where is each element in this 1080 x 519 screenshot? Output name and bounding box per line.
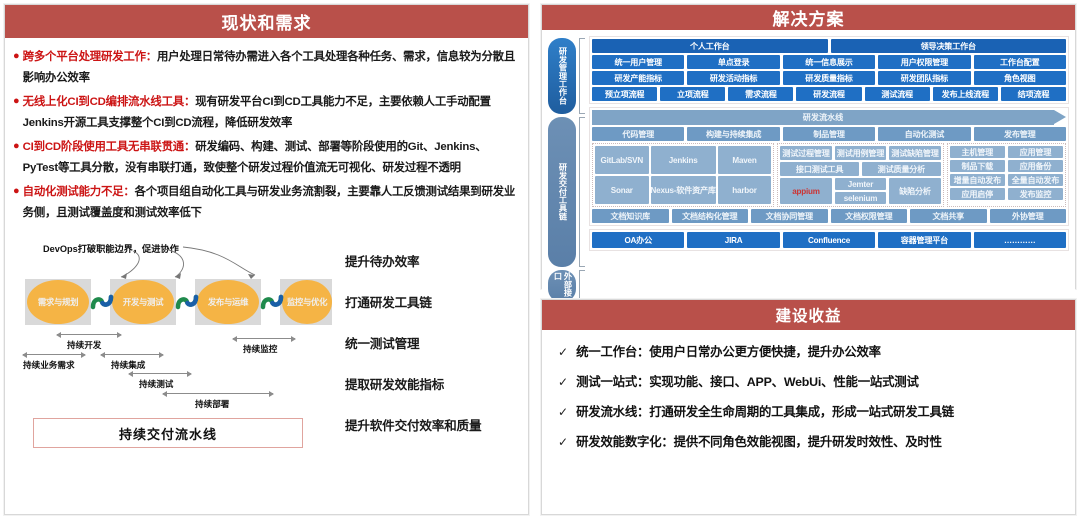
tool-full-release[interactable]: 全量自动发布 (1008, 174, 1063, 186)
management-workbench-group: 个人工作台 领导决策工作台 统一用户管理 单点登录 统一信息展示 用户权限管理 … (589, 36, 1069, 104)
workbench-row-4: 预立项流程 立项流程 需求流程 研发流程 测试流程 发布上线流程 结项流程 (592, 87, 1066, 101)
tool-app-mgmt[interactable]: 应用管理 (1008, 146, 1063, 158)
right-column: 解决方案 研发管理工作台 研发交付工具链 外部接口 个人工作台 (541, 4, 1076, 515)
deploy-row: 制品下载 应用备份 (950, 160, 1063, 172)
check-icon: ✓ (558, 404, 568, 420)
workbench-top-row: 个人工作台 领导决策工作台 (592, 39, 1066, 53)
tool-col: Jemter selenium (835, 178, 887, 204)
deploy-row: 增量自动发布 全量自动发布 (950, 174, 1063, 186)
tool-artifact-download[interactable]: 制品下载 (950, 160, 1005, 172)
module-unified-info-display[interactable]: 统一信息展示 (783, 55, 875, 69)
tool-maven[interactable]: Maven (718, 146, 771, 174)
module-user-permission-mgmt[interactable]: 用户权限管理 (878, 55, 970, 69)
list-item: ● 自动化测试能力不足：各个项目组自动化工具与研发业务流割裂，主要靠人工反馈测试… (13, 182, 518, 223)
status-and-requirements-panel: 现状和需求 ● 跨多个平台处理研发工作：用户处理日常待办需进入各个工具处理各种任… (4, 4, 529, 515)
external-row: OA办公 JIRA Confluence 容器管理平台 ………… (592, 232, 1066, 248)
test-row-2: 接口测试工具 测试质量分析 (780, 162, 940, 176)
tool-harbor[interactable]: harbor (718, 176, 771, 204)
benefit-list: ✓ 统一工作台：使用户日常办公更方便快捷，提升办公效率 ✓ 测试一站式：实现功能… (542, 330, 1075, 514)
tool-group-deploy: 主机管理 应用管理 制品下载 应用备份 增量自动发布 全量自动发布 (947, 143, 1066, 207)
layer-label-external: 外部接口 (548, 270, 576, 302)
workbench-row-3: 研发产能指标 研发活动指标 研发质量指标 研发团队指标 角色视图 (592, 71, 1066, 85)
benefit-panel-title: 建设收益 (542, 300, 1075, 330)
bullet-keyword: CI到CD阶段使用工具无串联贯通： (23, 141, 196, 153)
list-item: ✓ 测试一站式：实现功能、接口、APP、WebUi、性能一站式测试 (558, 374, 1059, 390)
devops-lifecycle-diagram: DevOps打破职能边界，促进协作 需求与规划 开发与测试 发布与运维 监控与优… (15, 237, 333, 452)
list-item: ✓ 研发流水线：打通研发全生命周期的工具集成，形成一站式研发工具链 (558, 404, 1059, 420)
infinity-loop-icon (89, 289, 115, 315)
tool-sonar[interactable]: Sonar (595, 176, 648, 204)
benefit-detail: 打通研发全生命周期的工具集成，形成一站式研发工具链 (649, 405, 954, 419)
tool-appium[interactable]: appium (780, 178, 832, 204)
module-personal-workbench[interactable]: 个人工作台 (592, 39, 828, 53)
stage-release-mgmt[interactable]: 发布管理 (974, 127, 1066, 141)
external-more[interactable]: ………… (974, 232, 1066, 248)
span-arrow (163, 393, 273, 394)
benefit-detail: 实现功能、接口、APP、WebUi、性能一站式测试 (649, 375, 918, 389)
devops-note-label: DevOps打破职能边界，促进协作 (43, 241, 179, 255)
span-arrow-label: 持续集成 (111, 359, 145, 371)
bullet-dot-icon: ● (13, 92, 20, 110)
external-jira[interactable]: JIRA (687, 232, 779, 248)
bracket-toolchain (579, 117, 585, 267)
tool-app-backup[interactable]: 应用备份 (1008, 160, 1063, 172)
check-icon: ✓ (558, 434, 568, 450)
module-leader-decision-workbench[interactable]: 领导决策工作台 (831, 39, 1067, 53)
benefit-keyword: 测试一站式： (576, 375, 649, 389)
tool-release-monitor[interactable]: 发布监控 (1008, 188, 1063, 200)
tool-app-start-stop[interactable]: 应用启停 (950, 188, 1005, 200)
tool-group-scm: GitLab/SVN Sonar Jenkins Nexus-软件资产库 Mav… (592, 143, 774, 207)
span-arrow (233, 338, 295, 339)
tool-selenium[interactable]: selenium (835, 192, 887, 204)
benefit-text: 统一工作台：使用户日常办公更方便快捷，提升办公效率 (576, 344, 881, 360)
module-doc-structured-mgmt[interactable]: 文档结构化管理 (672, 209, 749, 223)
layer-rail: 研发管理工作台 研发交付工具链 外部接口 (548, 36, 576, 302)
left-column: 现状和需求 ● 跨多个平台处理研发工作：用户处理日常待办需进入各个工具处理各种任… (4, 4, 529, 515)
bullet-keyword: 自动化测试能力不足： (23, 186, 135, 198)
tool-col: Jenkins Nexus-软件资产库 (651, 146, 716, 204)
tool-jenkins[interactable]: Jenkins (651, 146, 716, 174)
tool-test-process-mgmt[interactable]: 测试过程管理 (780, 146, 832, 160)
benefit-detail: 提供不同角色效能视图，提升研发时效性、及时性 (674, 435, 942, 449)
module-quality-metric[interactable]: 研发质量指标 (783, 71, 875, 85)
tool-col: GitLab/SVN Sonar (595, 146, 648, 204)
list-item: 提升待办效率 (345, 251, 520, 270)
infinity-loop-icon (174, 289, 200, 315)
left-benefit-list: 提升待办效率 打通研发工具链 统一测试管理 提取研发效能指标 提升软件交付效率和… (337, 237, 520, 508)
deploy-row: 应用启停 发布监控 (950, 188, 1063, 200)
stage-build-ci[interactable]: 构建与持续集成 (687, 127, 779, 141)
benefit-keyword: 统一工作台： (576, 345, 649, 359)
module-doc-permission[interactable]: 文档权限管理 (831, 209, 908, 223)
solution-panel-title: 解决方案 (542, 5, 1075, 30)
list-item: ● 无线上化CI到CD编排流水线工具：现有研发平台CI到CD工具能力不足，主要依… (13, 92, 518, 133)
deploy-row: 主机管理 应用管理 (950, 146, 1063, 158)
module-outsource-mgmt[interactable]: 外协管理 (990, 209, 1067, 223)
tool-api-test[interactable]: 接口测试工具 (780, 162, 859, 176)
workbench-row-2: 统一用户管理 单点登录 统一信息展示 用户权限管理 工作台配置 (592, 55, 1066, 69)
benefit-text: 研发流水线：打通研发全生命周期的工具集成，形成一站式研发工具链 (576, 404, 954, 420)
benefit-keyword: 研发流水线： (576, 405, 649, 419)
external-confluence[interactable]: Confluence (783, 232, 875, 248)
list-item: ● 跨多个平台处理研发工作：用户处理日常待办需进入各个工具处理各种任务、需求，信… (13, 47, 518, 88)
span-arrow (101, 354, 163, 355)
layer-brackets (579, 36, 586, 302)
span-arrow-label: 持续测试 (139, 378, 173, 390)
list-item: 提取研发效能指标 (345, 374, 520, 393)
external-container-platform[interactable]: 容器管理平台 (878, 232, 970, 248)
list-item: 统一测试管理 (345, 333, 520, 352)
architecture-stack: 个人工作台 领导决策工作台 统一用户管理 单点登录 统一信息展示 用户权限管理 … (589, 36, 1069, 302)
slide-root: 现状和需求 ● 跨多个平台处理研发工作：用户处理日常待办需进入各个工具处理各种任… (0, 0, 1080, 519)
status-panel-title: 现状和需求 (5, 5, 528, 38)
module-sso[interactable]: 单点登录 (687, 55, 779, 69)
tool-defect-analysis[interactable]: 缺陷分析 (889, 178, 941, 204)
module-role-view[interactable]: 角色视图 (974, 71, 1066, 85)
lifecycle-stage-label: 发布与运维 (197, 280, 259, 324)
test-row-3: appium Jemter selenium 缺陷分析 (780, 178, 940, 204)
bullet-body: CI到CD阶段使用工具无串联贯通：研发编码、构建、测试、部署等阶段使用的Git、… (23, 137, 518, 178)
lifecycle-stage: 监控与优化 (280, 279, 332, 325)
module-doc-share[interactable]: 文档共享 (910, 209, 987, 223)
lifecycle-stage: 需求与规划 (25, 279, 91, 325)
benefit-detail: 使用户日常办公更方便快捷，提升办公效率 (649, 345, 881, 359)
bracket-external (579, 270, 585, 302)
module-capacity-metric[interactable]: 研发产能指标 (592, 71, 684, 85)
status-bullet-list: ● 跨多个平台处理研发工作：用户处理日常待办需进入各个工具处理各种任务、需求，信… (5, 38, 528, 231)
list-item: ✓ 研发效能数字化：提供不同角色效能视图，提升研发时效性、及时性 (558, 434, 1059, 450)
list-item: 打通研发工具链 (345, 292, 520, 311)
lifecycle-stage-label: 开发与测试 (112, 280, 174, 324)
module-unified-user-mgmt[interactable]: 统一用户管理 (592, 55, 684, 69)
list-item: ● CI到CD阶段使用工具无串联贯通：研发编码、构建、测试、部署等阶段使用的Gi… (13, 137, 518, 178)
module-team-metric[interactable]: 研发团队指标 (878, 71, 970, 85)
infinity-loop-icon (259, 289, 285, 315)
external-interface-group: OA办公 JIRA Confluence 容器管理平台 ………… (589, 229, 1069, 251)
module-workbench-config[interactable]: 工作台配置 (974, 55, 1066, 69)
stage-auto-test[interactable]: 自动化测试 (878, 127, 970, 141)
span-arrow-label: 持续开发 (67, 339, 101, 351)
pipeline-stage-row: 代码管理 构建与持续集成 制品管理 自动化测试 发布管理 (592, 127, 1066, 141)
module-dev-flow[interactable]: 研发流程 (796, 87, 861, 101)
span-arrow (23, 354, 85, 355)
tool-test-case-mgmt[interactable]: 测试用例管理 (835, 146, 887, 160)
tool-test-defect-mgmt[interactable]: 测试缺陷管理 (889, 146, 941, 160)
lifecycle-stage-label: 需求与规划 (27, 280, 89, 324)
bracket-management (579, 38, 585, 114)
bullet-dot-icon: ● (13, 182, 20, 200)
tool-group-test: 测试过程管理 测试用例管理 测试缺陷管理 接口测试工具 测试质量分析 appiu… (777, 143, 943, 207)
bullet-dot-icon: ● (13, 137, 20, 155)
toolchain-group: 研发流水线 代码管理 构建与持续集成 制品管理 自动化测试 发布管理 (589, 107, 1069, 226)
bullet-body: 跨多个平台处理研发工作：用户处理日常待办需进入各个工具处理各种任务、需求，信息较… (23, 47, 518, 88)
benefit-keyword: 研发效能数字化： (576, 435, 674, 449)
tool-incremental-release[interactable]: 增量自动发布 (950, 174, 1005, 186)
external-oa[interactable]: OA办公 (592, 232, 684, 248)
lifecycle-stage: 开发与测试 (110, 279, 176, 325)
benefit-text: 研发效能数字化：提供不同角色效能视图，提升研发时效性、及时性 (576, 434, 942, 450)
check-icon: ✓ (558, 374, 568, 390)
stage-artifact-mgmt[interactable]: 制品管理 (783, 127, 875, 141)
list-item: ✓ 统一工作台：使用户日常办公更方便快捷，提升办公效率 (558, 344, 1059, 360)
benefit-text: 测试一站式：实现功能、接口、APP、WebUi、性能一站式测试 (576, 374, 919, 390)
solution-panel: 解决方案 研发管理工作台 研发交付工具链 外部接口 个人工作台 (541, 4, 1076, 289)
bullet-body: 自动化测试能力不足：各个项目组自动化工具与研发业务流割裂，主要靠人工反馈测试结果… (23, 182, 518, 223)
devops-diagram-area: DevOps打破职能边界，促进协作 需求与规划 开发与测试 发布与运维 监控与优… (5, 231, 528, 514)
tool-columns: GitLab/SVN Sonar Jenkins Nexus-软件资产库 Mav… (592, 143, 1066, 207)
pipeline-banner: 研发流水线 (592, 110, 1054, 125)
test-row-1: 测试过程管理 测试用例管理 测试缺陷管理 (780, 146, 940, 160)
span-arrow-label: 持续部署 (195, 398, 229, 410)
tool-test-quality-analysis[interactable]: 测试质量分析 (862, 162, 941, 176)
tool-jmeter[interactable]: Jemter (835, 178, 887, 190)
span-arrow (129, 373, 191, 374)
module-activity-metric[interactable]: 研发活动指标 (687, 71, 779, 85)
module-closure-flow[interactable]: 结项流程 (1001, 87, 1066, 101)
span-arrow-label: 持续业务需求 (23, 359, 75, 371)
tool-gitlab-svn[interactable]: GitLab/SVN (595, 146, 648, 174)
module-project-flow[interactable]: 立项流程 (660, 87, 725, 101)
lifecycle-stage-label: 监控与优化 (282, 280, 332, 324)
tool-col: Maven harbor (718, 146, 771, 204)
tool-host-mgmt[interactable]: 主机管理 (950, 146, 1005, 158)
list-item: 提升软件交付效率和质量 (345, 415, 520, 434)
layer-label-toolchain: 研发交付工具链 (548, 117, 576, 267)
layer-label-management: 研发管理工作台 (548, 38, 576, 114)
construction-benefit-panel: 建设收益 ✓ 统一工作台：使用户日常办公更方便快捷，提升办公效率 ✓ 测试一站式… (541, 299, 1076, 515)
module-test-flow[interactable]: 测试流程 (865, 87, 930, 101)
document-row: 文档知识库 文档结构化管理 文档协同管理 文档权限管理 文档共享 外协管理 (592, 209, 1066, 223)
stage-code-mgmt[interactable]: 代码管理 (592, 127, 684, 141)
module-doc-knowledge-base[interactable]: 文档知识库 (592, 209, 669, 223)
span-arrow-label: 持续监控 (243, 343, 277, 355)
bullet-keyword: 无线上化CI到CD编排流水线工具： (23, 96, 196, 108)
module-pre-project-flow[interactable]: 预立项流程 (592, 87, 657, 101)
bullet-body: 无线上化CI到CD编排流水线工具：现有研发平台CI到CD工具能力不足，主要依赖人… (23, 92, 518, 133)
continuous-delivery-pipeline-box: 持续交付流水线 (33, 418, 303, 448)
module-requirement-flow[interactable]: 需求流程 (728, 87, 793, 101)
module-release-flow[interactable]: 发布上线流程 (933, 87, 998, 101)
module-doc-collaboration[interactable]: 文档协同管理 (751, 209, 828, 223)
solution-architecture-diagram: 研发管理工作台 研发交付工具链 外部接口 个人工作台 领导决策工作台 (542, 30, 1075, 307)
bullet-keyword: 跨多个平台处理研发工作： (23, 51, 157, 63)
bullet-dot-icon: ● (13, 47, 20, 65)
span-arrow (57, 334, 121, 335)
tool-nexus[interactable]: Nexus-软件资产库 (651, 176, 716, 204)
check-icon: ✓ (558, 344, 568, 360)
lifecycle-stage: 发布与运维 (195, 279, 261, 325)
